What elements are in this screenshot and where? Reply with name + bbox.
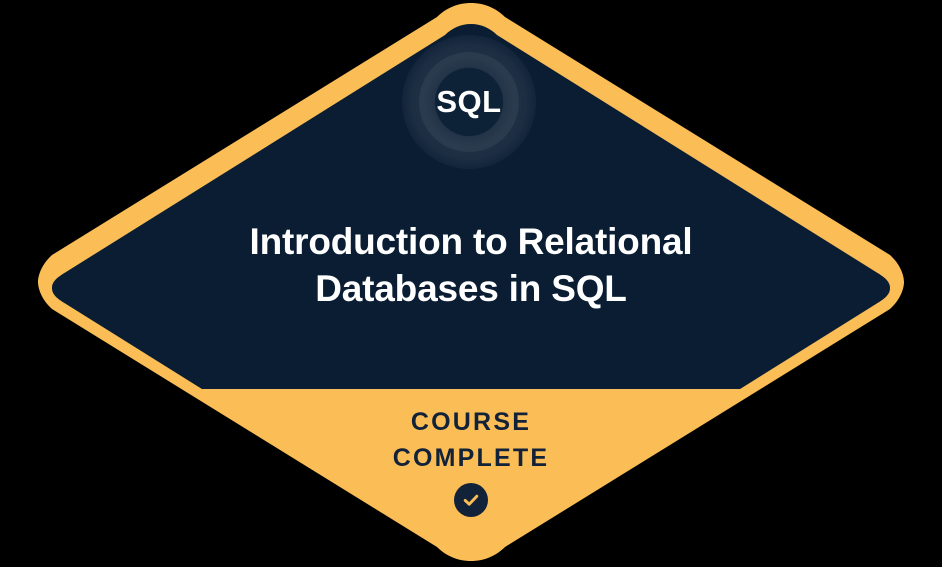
sql-emblem: SQL bbox=[402, 35, 536, 169]
status-label-line-2: COMPLETE bbox=[221, 440, 721, 476]
check-circle-icon bbox=[454, 483, 488, 517]
check-mark-icon bbox=[461, 490, 481, 510]
course-title-line-2: Databases in SQL bbox=[131, 265, 811, 312]
sql-label: SQL bbox=[402, 35, 536, 169]
course-completion-badge: SQL Introduction to Relational Databases… bbox=[0, 0, 942, 567]
status-block: COURSE COMPLETE bbox=[221, 404, 721, 517]
status-label-line-1: COURSE bbox=[221, 404, 721, 440]
course-title: Introduction to Relational Databases in … bbox=[131, 218, 811, 312]
course-title-line-1: Introduction to Relational bbox=[131, 218, 811, 265]
check-badge-wrap bbox=[221, 483, 721, 517]
